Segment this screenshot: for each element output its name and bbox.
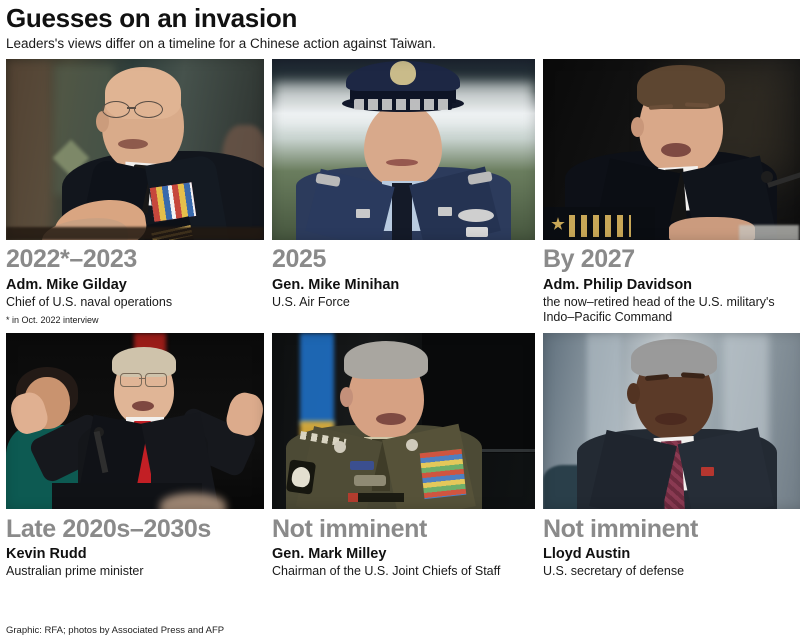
- card-lloyd-austin: Not imminent Lloyd Austin U.S. secretary…: [543, 333, 800, 579]
- adm-philip-davidson-photo: [543, 59, 800, 240]
- person-name: Adm. Mike Gilday: [6, 277, 264, 294]
- card-gen-mike-minihan: 2025 Gen. Mike Minihan U.S. Air Force: [272, 59, 535, 326]
- timeline-headline: Not imminent: [272, 516, 535, 542]
- person-role: Chairman of the U.S. Joint Chiefs of Sta…: [272, 564, 535, 579]
- timeline-headline: By 2027: [543, 246, 800, 272]
- source-credit: Graphic: RFA; photos by Associated Press…: [6, 625, 224, 636]
- kevin-rudd-photo: [6, 333, 264, 509]
- gen-mark-milley-photo: [272, 333, 535, 509]
- person-role: U.S. secretary of defense: [543, 564, 800, 579]
- timeline-headline: Not imminent: [543, 516, 800, 542]
- card-adm-philip-davidson: By 2027 Adm. Philip Davidson the now–ret…: [543, 59, 800, 326]
- card-grid-row-1: 2022*–2023 Adm. Mike Gilday Chief of U.S…: [6, 59, 794, 326]
- person-role: Australian prime minister: [6, 564, 264, 579]
- header: Guesses on an invasion Leaders's views d…: [6, 0, 794, 51]
- card-kevin-rudd: Late 2020s–2030s Kevin Rudd Australian p…: [6, 333, 264, 579]
- person-role: the now–retired head of the U.S. militar…: [543, 295, 800, 325]
- page-subtitle: Leaders's views differ on a timeline for…: [6, 36, 794, 52]
- caption: Late 2020s–2030s Kevin Rudd Australian p…: [6, 509, 264, 579]
- timeline-headline: 2025: [272, 246, 535, 272]
- timeline-headline: 2022*–2023: [6, 246, 264, 272]
- infographic-sheet: Guesses on an invasion Leaders's views d…: [0, 0, 800, 643]
- person-name: Adm. Philip Davidson: [543, 277, 800, 294]
- page-title: Guesses on an invasion: [6, 4, 794, 33]
- caption: Not imminent Gen. Mark Milley Chairman o…: [272, 509, 535, 579]
- lloyd-austin-photo: [543, 333, 800, 509]
- caption: Not imminent Lloyd Austin U.S. secretary…: [543, 509, 800, 579]
- person-name: Gen. Mark Milley: [272, 546, 535, 563]
- person-name: Lloyd Austin: [543, 546, 800, 563]
- caption: By 2027 Adm. Philip Davidson the now–ret…: [543, 240, 800, 324]
- person-role: Chief of U.S. naval operations: [6, 295, 264, 310]
- timeline-headline: Late 2020s–2030s: [6, 516, 264, 542]
- caption: 2022*–2023 Adm. Mike Gilday Chief of U.S…: [6, 240, 264, 326]
- card-adm-mike-gilday: 2022*–2023 Adm. Mike Gilday Chief of U.S…: [6, 59, 264, 326]
- card-gen-mark-milley: Not imminent Gen. Mark Milley Chairman o…: [272, 333, 535, 579]
- card-grid-row-2: Late 2020s–2030s Kevin Rudd Australian p…: [6, 333, 794, 579]
- adm-mike-gilday-photo: [6, 59, 264, 240]
- person-name: Gen. Mike Minihan: [272, 277, 535, 294]
- footnote: * in Oct. 2022 interview: [6, 316, 264, 326]
- caption: 2025 Gen. Mike Minihan U.S. Air Force: [272, 240, 535, 310]
- gen-mike-minihan-photo: [272, 59, 535, 240]
- person-name: Kevin Rudd: [6, 546, 264, 563]
- person-role: U.S. Air Force: [272, 295, 535, 310]
